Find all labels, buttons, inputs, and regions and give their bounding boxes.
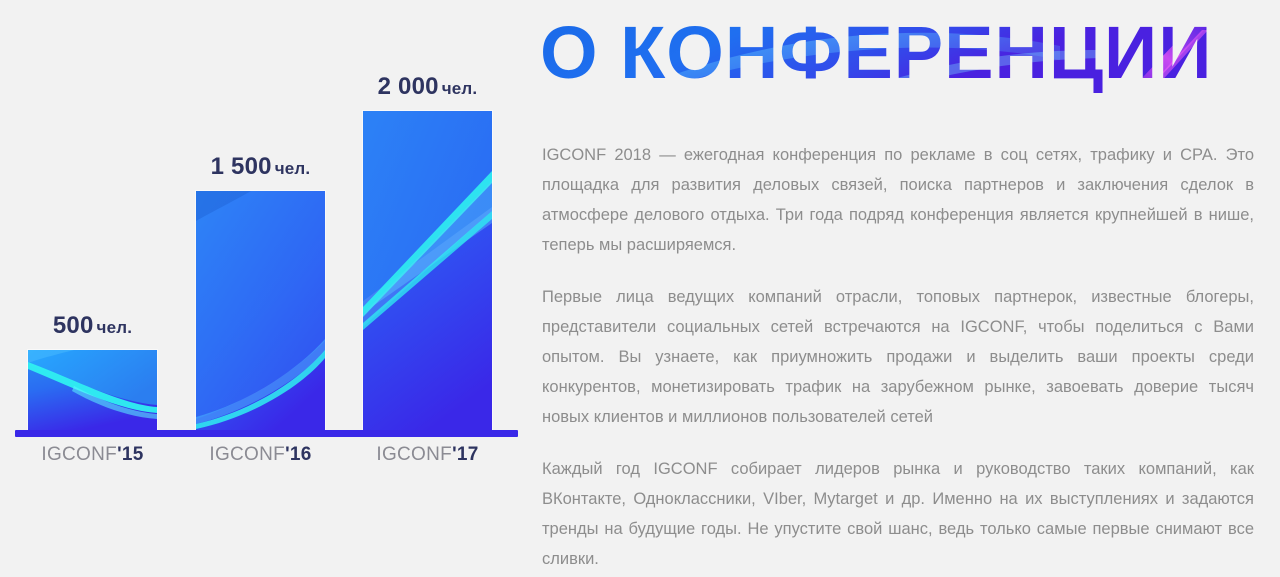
bar-igconf17 bbox=[363, 111, 492, 432]
axis-label-igconf17: IGCONF'17 bbox=[376, 444, 478, 466]
bar-fill bbox=[28, 350, 157, 432]
bar-gradient-artwork bbox=[196, 191, 325, 432]
bar-value-label: 500чел. bbox=[53, 312, 132, 340]
headline-fill-group bbox=[540, 16, 1280, 96]
chart-category-labels: IGCONF'15 IGCONF'16 IGCONF'17 bbox=[0, 444, 530, 478]
axis-label-prefix: IGCONF bbox=[209, 444, 285, 465]
axis-label-year: '17 bbox=[452, 444, 479, 465]
axis-label-prefix: IGCONF bbox=[41, 444, 117, 465]
bar-gradient-artwork bbox=[363, 111, 492, 432]
bar-value-unit: чел. bbox=[97, 318, 133, 337]
axis-label-year: '16 bbox=[285, 444, 312, 465]
bar-igconf16 bbox=[196, 191, 325, 432]
bar-value-unit: чел. bbox=[275, 159, 311, 178]
bar-igconf15 bbox=[28, 350, 157, 432]
bar-fill bbox=[363, 111, 492, 432]
headline-gradient-artwork: О КОНФЕРЕНЦИИ О КОНФЕРЕНЦИИ bbox=[540, 16, 1280, 96]
about-text-panel: О КОНФЕРЕНЦИИ О КОНФЕРЕНЦИИ IGCONF 2018 … bbox=[540, 0, 1260, 577]
axis-label-igconf16: IGCONF'16 bbox=[209, 444, 311, 466]
bar-value-number: 2 000 bbox=[378, 73, 439, 100]
axis-label-prefix: IGCONF bbox=[376, 444, 452, 465]
bar-value-number: 1 500 bbox=[211, 153, 272, 180]
chart-baseline-axis bbox=[15, 430, 518, 437]
axis-label-igconf15: IGCONF'15 bbox=[41, 444, 143, 466]
attendance-bar-chart: 500чел. bbox=[0, 0, 530, 577]
bar-fill bbox=[196, 191, 325, 432]
bar-value-unit: чел. bbox=[442, 79, 478, 98]
about-paragraphs: IGCONF 2018 — ежегодная конференция по р… bbox=[542, 140, 1254, 574]
chart-plot-area: 500чел. bbox=[0, 0, 530, 440]
axis-label-year: '15 bbox=[117, 444, 144, 465]
about-conference-section: 500чел. bbox=[0, 0, 1280, 577]
about-paragraph-2: Первые лица ведущих компаний отрасли, то… bbox=[542, 282, 1254, 432]
section-headline: О КОНФЕРЕНЦИИ О КОНФЕРЕНЦИИ bbox=[540, 16, 1280, 92]
bar-value-label: 1 500чел. bbox=[211, 153, 311, 181]
bar-gradient-artwork bbox=[28, 350, 157, 432]
bar-value-label: 2 000чел. bbox=[378, 73, 478, 101]
about-paragraph-3: Каждый год IGCONF собирает лидеров рынка… bbox=[542, 454, 1254, 574]
bar-value-number: 500 bbox=[53, 312, 94, 339]
about-paragraph-1: IGCONF 2018 — ежегодная конференция по р… bbox=[542, 140, 1254, 260]
